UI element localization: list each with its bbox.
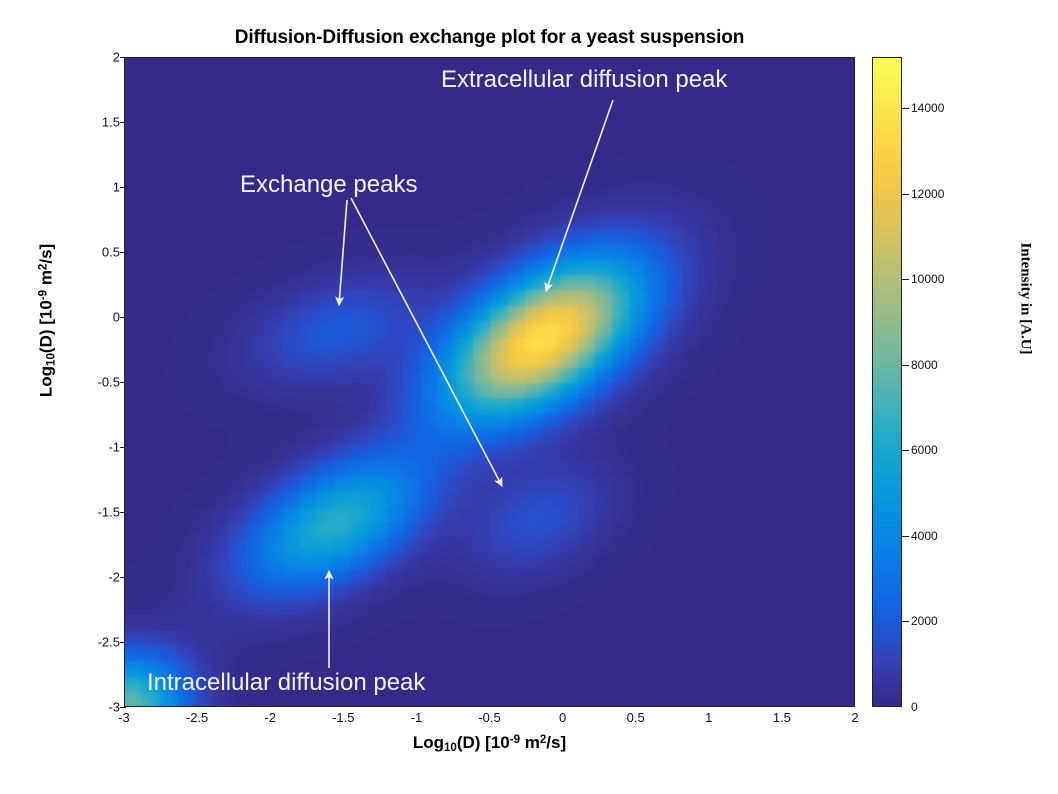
y-tick-label: 1 bbox=[80, 180, 120, 195]
page-title: Diffusion-Diffusion exchange plot for a … bbox=[124, 27, 855, 49]
x-tick-label: 1.5 bbox=[757, 710, 807, 725]
colorbar-tick-label: 0 bbox=[911, 700, 918, 714]
x-tick-label: 2 bbox=[830, 710, 880, 725]
y-tick-label: -0.5 bbox=[80, 375, 120, 390]
x-tick-label: -1 bbox=[391, 710, 441, 725]
x-tick-label: 0 bbox=[538, 710, 588, 725]
y-tick-label: -2 bbox=[80, 570, 120, 585]
colorbar-ticks: 02000400060008000100001200014000 bbox=[902, 57, 972, 707]
y-axis-ticks: -3-2.5-2-1.5-1-0.500.511.52 bbox=[74, 57, 120, 707]
y-tick-label: 0.5 bbox=[80, 245, 120, 260]
colorbar-tick-label: 8000 bbox=[911, 358, 938, 372]
y-tick-label: -2.5 bbox=[80, 635, 120, 650]
y-tick-label: -1.5 bbox=[80, 505, 120, 520]
colorbar-tick-label: 12000 bbox=[911, 187, 944, 201]
y-axis-label: Log10(D) [10-9 m2/s] bbox=[37, 210, 58, 430]
y-tick-mark bbox=[120, 707, 126, 708]
x-tick-label: -2.5 bbox=[172, 710, 222, 725]
colorbar-tick-mark bbox=[902, 279, 909, 280]
colorbar-tick-mark bbox=[902, 365, 909, 366]
x-tick-label: -1.5 bbox=[318, 710, 368, 725]
heatmap-plot-area: Extracellular diffusion peakExchange pea… bbox=[124, 57, 855, 707]
x-tick-label: -2 bbox=[245, 710, 295, 725]
x-axis-label-text: Log10(D) [10-9 m2/s] bbox=[413, 733, 566, 752]
colorbar bbox=[872, 57, 902, 707]
x-tick-label: -3 bbox=[99, 710, 149, 725]
y-axis-label-text: Log10(D) [10-9 m2/s] bbox=[37, 244, 56, 397]
colorbar-tick-mark bbox=[902, 450, 909, 451]
colorbar-gradient bbox=[873, 58, 901, 706]
x-axis-ticks: -3-2.5-2-1.5-1-0.500.511.52 bbox=[124, 710, 855, 732]
x-tick-label: -0.5 bbox=[465, 710, 515, 725]
x-axis-label: Log10(D) [10-9 m2/s] bbox=[124, 733, 855, 754]
colorbar-tick-mark bbox=[902, 194, 909, 195]
heatmap-canvas bbox=[125, 58, 855, 707]
colorbar-tick-label: 10000 bbox=[911, 272, 944, 286]
colorbar-tick-label: 4000 bbox=[911, 529, 938, 543]
figure-root: Diffusion-Diffusion exchange plot for a … bbox=[0, 0, 1058, 794]
colorbar-tick-label: 14000 bbox=[911, 101, 944, 115]
x-tick-label: 0.5 bbox=[611, 710, 661, 725]
x-tick-label: 1 bbox=[684, 710, 734, 725]
y-tick-label: 0 bbox=[80, 310, 120, 325]
colorbar-tick-mark bbox=[902, 108, 909, 109]
y-tick-label: 2 bbox=[80, 50, 120, 65]
y-tick-label: 1.5 bbox=[80, 115, 120, 130]
colorbar-tick-label: 6000 bbox=[911, 443, 938, 457]
colorbar-tick-mark bbox=[902, 621, 909, 622]
colorbar-tick-label: 2000 bbox=[911, 614, 938, 628]
y-tick-label: -1 bbox=[80, 440, 120, 455]
colorbar-tick-mark bbox=[902, 536, 909, 537]
colorbar-label: Intensity in [A.U] bbox=[1017, 199, 1034, 399]
